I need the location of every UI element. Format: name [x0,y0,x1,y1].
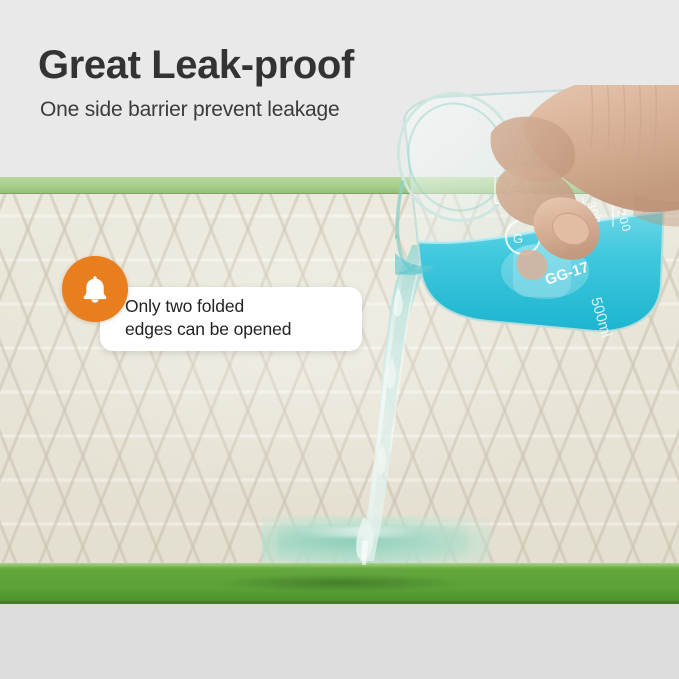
product-feature-image: Great Leak-proof One side barrier preven… [0,0,679,679]
beaker-and-hand-illustration: 500 APPROX 300 200 G GG-17 500ml [395,85,679,340]
page-title: Great Leak-proof [38,42,354,88]
mat-bottom-edge-shading [215,574,465,592]
page-subtitle: One side barrier prevent leakage [40,97,339,123]
callout-group: Only two folded edges can be opened [62,256,362,352]
floor-background [0,604,679,679]
callout-text: Only two folded edges can be opened [125,295,355,341]
callout-line-2: edges can be opened [125,318,355,341]
callout-line-1: Only two folded [125,295,355,318]
bell-icon [62,256,128,322]
svg-text:G: G [513,231,523,246]
